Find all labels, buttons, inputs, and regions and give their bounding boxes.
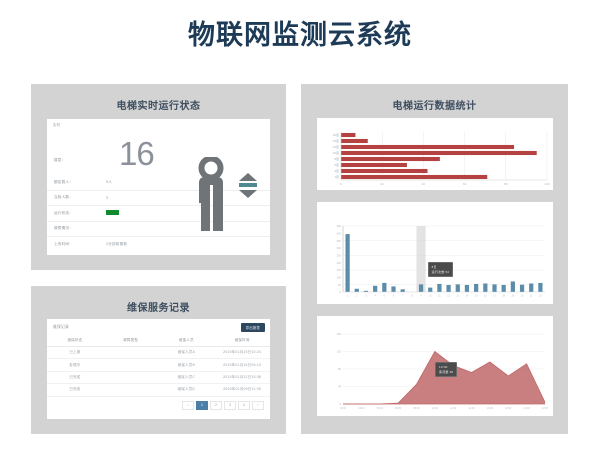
operation-stats-panel: 电梯运行数据统计 楼层停靠次数统计 02040608010016层15层12层1… bbox=[301, 84, 568, 434]
svg-text:80: 80 bbox=[504, 182, 508, 186]
chevron-down-icon bbox=[239, 190, 257, 198]
svg-text:450: 450 bbox=[337, 224, 342, 228]
status-label: 故障情况： bbox=[47, 226, 106, 231]
table-row[interactable]: 已完成 维保人员D 2019年01月09日11:05 bbox=[47, 384, 270, 396]
pagination-page-2[interactable]: 2 bbox=[210, 401, 222, 410]
table-row[interactable]: 处理中 维保人员B 2019年01月14日09:10 bbox=[47, 359, 270, 371]
svg-text:06:00: 06:00 bbox=[395, 407, 402, 410]
export-report-button[interactable]: 导出报表 bbox=[241, 323, 265, 332]
direction-arrows-icon bbox=[239, 173, 257, 198]
svg-text:250: 250 bbox=[337, 253, 342, 257]
svg-text:8层: 8层 bbox=[334, 156, 339, 161]
svg-text:20: 20 bbox=[381, 182, 385, 186]
cell-status: 已完成 bbox=[47, 371, 103, 383]
svg-text:12:00: 12:00 bbox=[450, 407, 457, 410]
elevator-person-icon bbox=[195, 157, 261, 243]
maintenance-panel: 维保服务记录 维保记录 导出报表 维保状态 故障类型 维保人员 维保时间 已上报… bbox=[31, 286, 286, 434]
pagination-page-3[interactable]: 3 bbox=[224, 401, 236, 410]
cell-time: 2019年01月15日10:24 bbox=[214, 347, 270, 359]
svg-text:100: 100 bbox=[337, 275, 342, 279]
svg-text:22:00: 22:00 bbox=[542, 407, 549, 410]
svg-text:350: 350 bbox=[337, 239, 342, 243]
cell-staff: 维保人员C bbox=[159, 371, 215, 383]
chart-tooltip: 8日 运行次数 52 bbox=[428, 262, 454, 277]
status-label: 楼层： bbox=[47, 158, 106, 163]
cell-time: 2019年01月09日11:05 bbox=[214, 384, 270, 396]
table-row[interactable]: 已上报 维保人员A 2019年01月15日10:24 bbox=[47, 347, 270, 359]
floor-stop-bar-chart: 楼层停靠次数统计 02040608010016层15层12层10层8层6层3层1… bbox=[317, 118, 553, 190]
svg-text:18:00: 18:00 bbox=[505, 407, 512, 410]
cell-fault bbox=[103, 347, 159, 359]
status-label: 上传时间： bbox=[47, 242, 106, 247]
floor-indicator-bar bbox=[239, 183, 257, 187]
svg-text:12层: 12层 bbox=[333, 144, 339, 149]
status-label: 运行状态： bbox=[47, 211, 106, 216]
svg-text:08:00: 08:00 bbox=[413, 407, 420, 410]
svg-text:20:00: 20:00 bbox=[524, 407, 531, 410]
cell-fault bbox=[103, 384, 159, 396]
elevator-status-panel: 电梯实时运行状态 实时 16 楼层： 额定载人： 9人 当前人数： 3 运行状态… bbox=[31, 84, 286, 270]
status-value bbox=[106, 210, 119, 216]
svg-text:150: 150 bbox=[337, 268, 342, 272]
cell-staff: 维保人员D bbox=[159, 384, 215, 396]
svg-text:1层: 1层 bbox=[334, 174, 339, 179]
chart-tooltip: 13:00 客流量 96 bbox=[435, 362, 457, 377]
column-header: 故障类型 bbox=[103, 335, 159, 347]
svg-text:16:00: 16:00 bbox=[487, 407, 494, 410]
cell-time: 2019年01月14日09:10 bbox=[214, 359, 270, 371]
status-label: 额定载人： bbox=[47, 180, 106, 185]
column-chart-plot[interactable]: 4504003503002502001501005001234567891011… bbox=[317, 202, 553, 304]
table-header-row: 维保状态 故障类型 维保人员 维保时间 bbox=[47, 335, 270, 347]
cell-staff: 维保人员A bbox=[159, 347, 215, 359]
pagination-prev[interactable]: ‹ bbox=[182, 401, 194, 410]
svg-text:3层: 3层 bbox=[334, 168, 339, 173]
maintenance-table: 维保状态 故障类型 维保人员 维保时间 已上报 维保人员A 2019年01月15… bbox=[47, 335, 270, 397]
person-pair-icon bbox=[195, 157, 241, 235]
cell-fault bbox=[103, 371, 159, 383]
svg-text:02:00: 02:00 bbox=[358, 407, 365, 410]
bar-chart-plot[interactable]: 02040608010016层15层12层10层8层6层3层1层 bbox=[317, 118, 553, 190]
maintenance-card-header: 维保记录 导出报表 bbox=[47, 319, 270, 332]
cell-time: 2019年01月12日15:38 bbox=[214, 371, 270, 383]
svg-text:14:00: 14:00 bbox=[469, 407, 476, 410]
cell-status: 处理中 bbox=[47, 359, 103, 371]
svg-text:04:00: 04:00 bbox=[377, 407, 384, 410]
svg-text:10:00: 10:00 bbox=[432, 407, 439, 410]
column-header: 维保人员 bbox=[159, 335, 215, 347]
daily-runs-column-chart: 每日运行次数统计 4504003503002502001501005001234… bbox=[317, 202, 553, 304]
tooltip-value: 运行次数 52 bbox=[432, 270, 450, 275]
svg-text:6层: 6层 bbox=[334, 162, 339, 167]
pagination-page-1[interactable]: 1 bbox=[196, 401, 208, 410]
svg-text:60: 60 bbox=[463, 182, 467, 186]
status-value: 2分钟前更新 bbox=[106, 242, 127, 247]
svg-text:120: 120 bbox=[337, 350, 342, 354]
column-header: 维保状态 bbox=[47, 335, 103, 347]
svg-text:300: 300 bbox=[337, 246, 342, 250]
status-label: 当前人数： bbox=[47, 195, 106, 200]
page-title: 物联网监测云系统 bbox=[0, 13, 600, 52]
card-corner-label: 实时 bbox=[47, 119, 270, 128]
maintenance-card-label: 维保记录 bbox=[53, 325, 69, 330]
panel-title-maintenance: 维保服务记录 bbox=[31, 286, 286, 314]
tooltip-value: 客流量 96 bbox=[439, 370, 453, 375]
svg-text:200: 200 bbox=[337, 261, 342, 265]
chevron-up-icon bbox=[239, 173, 257, 181]
cell-status: 已上报 bbox=[47, 347, 103, 359]
svg-text:10层: 10层 bbox=[333, 150, 339, 155]
svg-text:100: 100 bbox=[544, 182, 549, 186]
svg-text:15层: 15层 bbox=[333, 138, 339, 143]
svg-text:16层: 16层 bbox=[333, 132, 339, 137]
svg-text:40: 40 bbox=[422, 182, 426, 186]
status-value: 9人 bbox=[106, 180, 112, 185]
svg-text:400: 400 bbox=[337, 231, 342, 235]
cell-fault bbox=[103, 359, 159, 371]
svg-text:00:00: 00:00 bbox=[340, 407, 347, 410]
panel-title-right: 电梯运行数据统计 bbox=[301, 84, 568, 112]
elevator-status-card: 实时 16 楼层： 额定载人： 9人 当前人数： 3 运行状态： 故障情况： bbox=[47, 119, 270, 255]
cell-status: 已完成 bbox=[47, 384, 103, 396]
cell-staff: 维保人员B bbox=[159, 359, 215, 371]
table-row[interactable]: 已完成 维保人员C 2019年01月12日15:38 bbox=[47, 371, 270, 383]
status-value: 3 bbox=[106, 196, 108, 200]
pagination: ‹ 1 2 3 4 › bbox=[47, 397, 270, 410]
panel-title-status: 电梯实时运行状态 bbox=[31, 84, 286, 112]
column-header: 维保时间 bbox=[214, 335, 270, 347]
svg-text:160: 160 bbox=[337, 332, 342, 336]
passenger-flow-area-chart: 当日客流量趋势 1601208040000:0002:0004:0006:000… bbox=[317, 316, 553, 416]
pagination-next[interactable]: › bbox=[252, 401, 264, 410]
maintenance-record-card: 维保记录 导出报表 维保状态 故障类型 维保人员 维保时间 已上报 维保人员A … bbox=[47, 319, 270, 419]
status-badge bbox=[106, 210, 119, 215]
pagination-page-4[interactable]: 4 bbox=[238, 401, 250, 410]
